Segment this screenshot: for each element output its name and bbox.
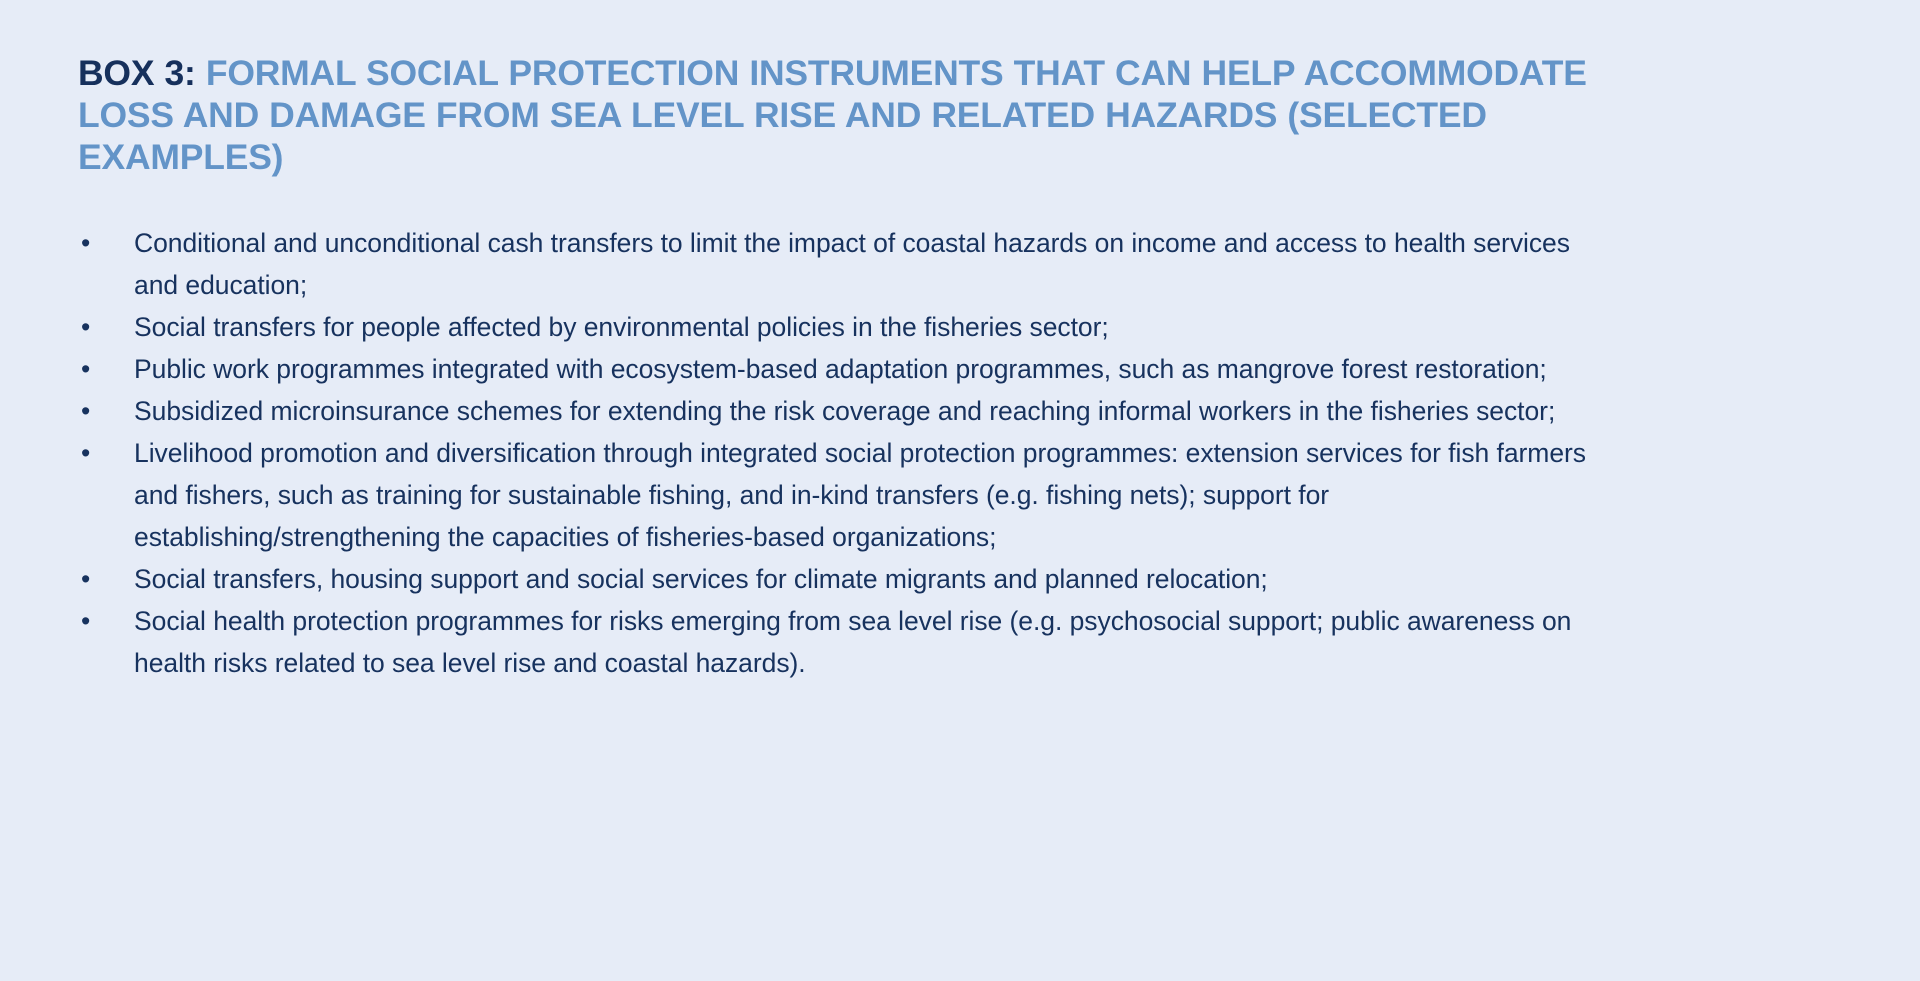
bullet-point-icon: • — [81, 306, 103, 348]
bullet-list: • Conditional and unconditional cash tra… — [78, 222, 1850, 684]
bullet-point-icon: • — [81, 432, 103, 474]
list-item: • Livelihood promotion and diversificati… — [78, 432, 1612, 558]
list-item: • Conditional and unconditional cash tra… — [78, 222, 1612, 306]
list-item-text: Public work programmes integrated with e… — [134, 348, 1612, 390]
bullet-point-icon: • — [81, 558, 103, 600]
list-item: • Social health protection programmes fo… — [78, 600, 1612, 684]
list-item-text: Livelihood promotion and diversification… — [134, 432, 1612, 558]
list-item-text: Subsidized microinsurance schemes for ex… — [134, 390, 1612, 432]
box-title: FORMAL SOCIAL PROTECTION INSTRUMENTS THA… — [78, 53, 1587, 177]
list-item-text: Social transfers for people affected by … — [134, 306, 1612, 348]
bullet-point-icon: • — [81, 222, 103, 264]
list-item: • Social transfers, housing support and … — [78, 558, 1612, 600]
heading-space — [196, 53, 206, 93]
bullet-point-icon: • — [81, 348, 103, 390]
list-item: • Subsidized microinsurance schemes for … — [78, 390, 1612, 432]
bullet-point-icon: • — [81, 600, 103, 642]
list-item-text: Conditional and unconditional cash trans… — [134, 222, 1612, 306]
box-heading: BOX 3: FORMAL SOCIAL PROTECTION INSTRUME… — [78, 52, 1678, 178]
box-number-label: BOX 3: — [78, 53, 196, 93]
bullet-point-icon: • — [81, 390, 103, 432]
list-item: • Social transfers for people affected b… — [78, 306, 1612, 348]
list-item: • Public work programmes integrated with… — [78, 348, 1612, 390]
list-item-text: Social transfers, housing support and so… — [134, 558, 1612, 600]
box-container: BOX 3: FORMAL SOCIAL PROTECTION INSTRUME… — [0, 0, 1920, 981]
list-item-text: Social health protection programmes for … — [134, 600, 1612, 684]
